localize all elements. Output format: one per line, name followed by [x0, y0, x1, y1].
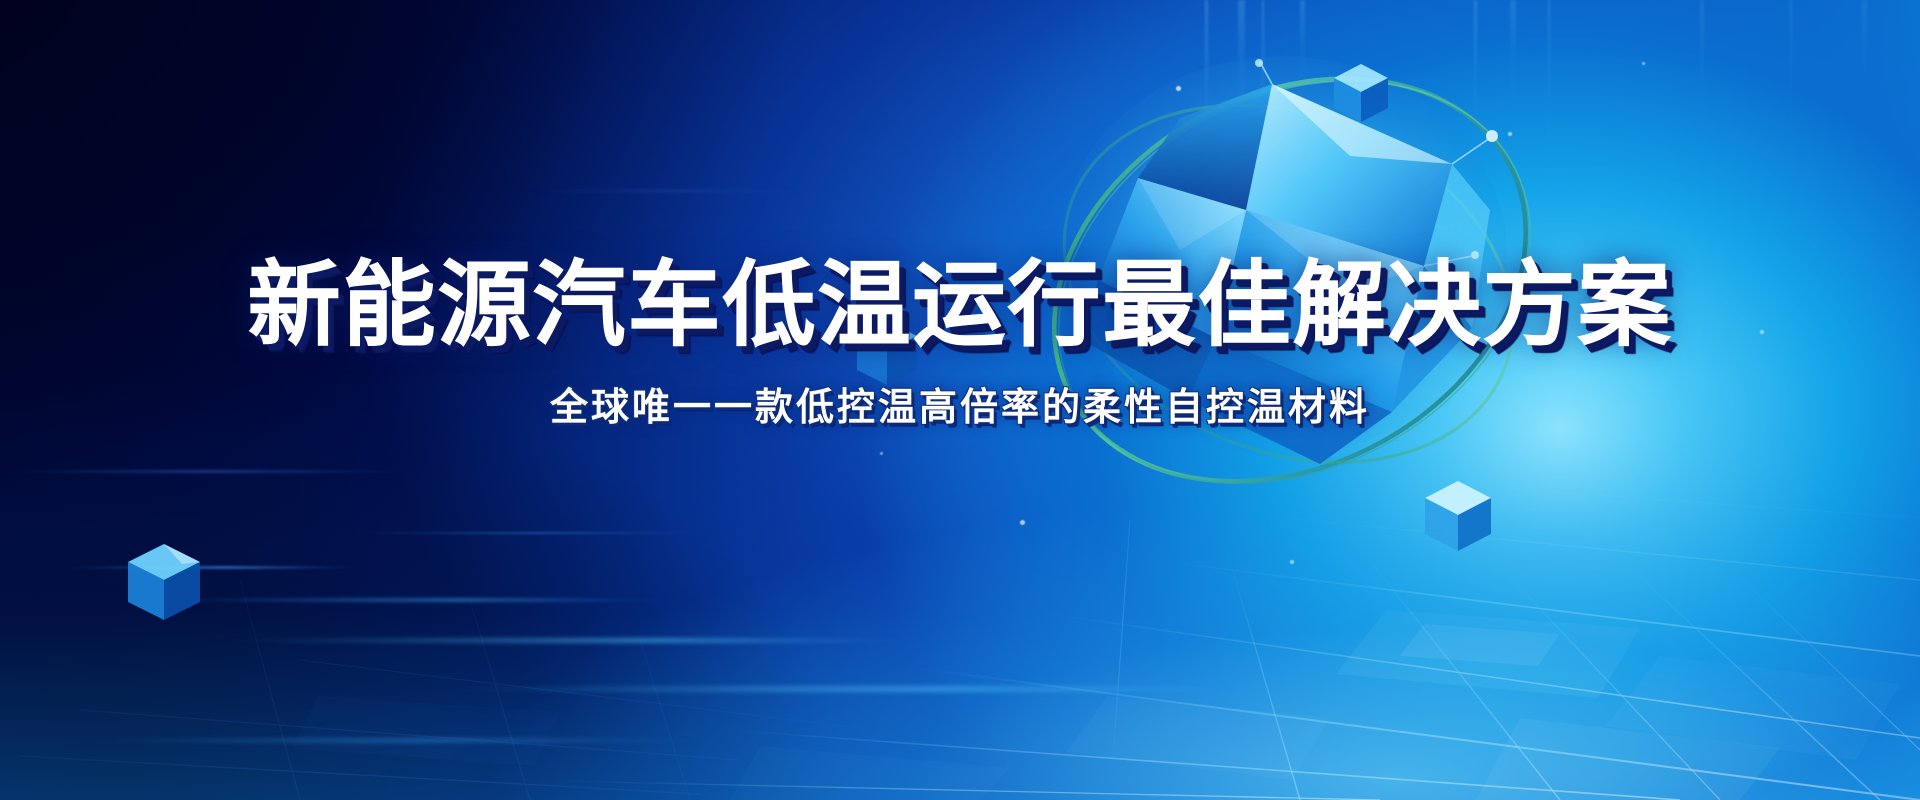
floating-cube-right	[1420, 478, 1496, 554]
cube-svg	[122, 540, 206, 624]
floor-grid-dark-svg	[0, 460, 1920, 800]
page-subtitle: 全球唯一一款低控温高倍率的柔性自控温材料	[0, 387, 1920, 429]
light-beam-icon	[1790, 0, 1792, 178]
grid-panel	[292, 696, 560, 766]
cube-svg	[1330, 62, 1392, 124]
light-beam-icon	[1862, 0, 1867, 108]
sparkle-icon	[1176, 86, 1181, 91]
cube-svg	[1420, 478, 1496, 554]
page-title: 新能源汽车低温运行最佳解决方案	[0, 258, 1920, 353]
sparkle-icon	[1020, 520, 1025, 525]
banner-canvas: 新能源汽车低温运行最佳解决方案 全球唯一一款低控温高倍率的柔性自控温材料	[0, 0, 1920, 800]
light-beam-icon	[1700, 0, 1704, 140]
floating-cube-top-right	[1330, 62, 1392, 124]
perspective-floor-grid-dark	[0, 460, 1920, 800]
sparkle-icon	[880, 452, 883, 455]
sparkle-icon	[1290, 560, 1294, 564]
banner-copy: 新能源汽车低温运行最佳解决方案 全球唯一一款低控温高倍率的柔性自控温材料	[0, 258, 1920, 429]
sparkle-icon	[1508, 132, 1512, 136]
sparkle-icon	[1642, 62, 1645, 65]
floating-cube-bottom-left	[122, 540, 206, 624]
